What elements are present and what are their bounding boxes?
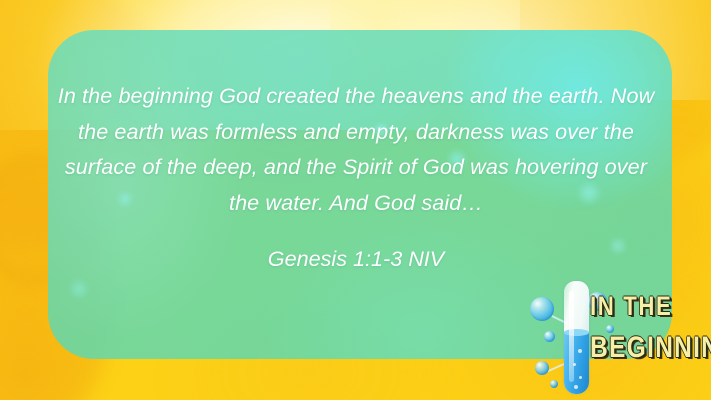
bubble-icon xyxy=(530,297,554,321)
bubble-icon xyxy=(550,380,558,388)
in-the-beginning-logo: IN THE BEGINNING xyxy=(528,275,711,400)
slide-canvas: In the beginning God created the heavens… xyxy=(0,0,711,400)
test-tube-highlight xyxy=(569,291,574,382)
scripture-quote-text: In the beginning God created the heavens… xyxy=(56,78,656,220)
test-tube-inner-bubble xyxy=(579,376,582,379)
quote-block: In the beginning God created the heavens… xyxy=(56,78,656,274)
scripture-citation: Genesis 1:1-3 NIV xyxy=(56,220,656,274)
test-tube-inner-bubble xyxy=(574,385,578,389)
test-tube-icon xyxy=(564,281,589,394)
logo-wordmark: IN THE BEGINNING xyxy=(590,293,711,363)
panel-sparkle xyxy=(68,278,90,300)
test-tube-glass xyxy=(564,281,589,394)
bubble-icon xyxy=(544,331,555,342)
logo-line-1: IN THE xyxy=(590,293,689,320)
logo-line-2: BEGINNING xyxy=(590,333,689,363)
bubble-icon xyxy=(535,361,549,375)
test-tube-inner-bubble xyxy=(578,349,582,353)
